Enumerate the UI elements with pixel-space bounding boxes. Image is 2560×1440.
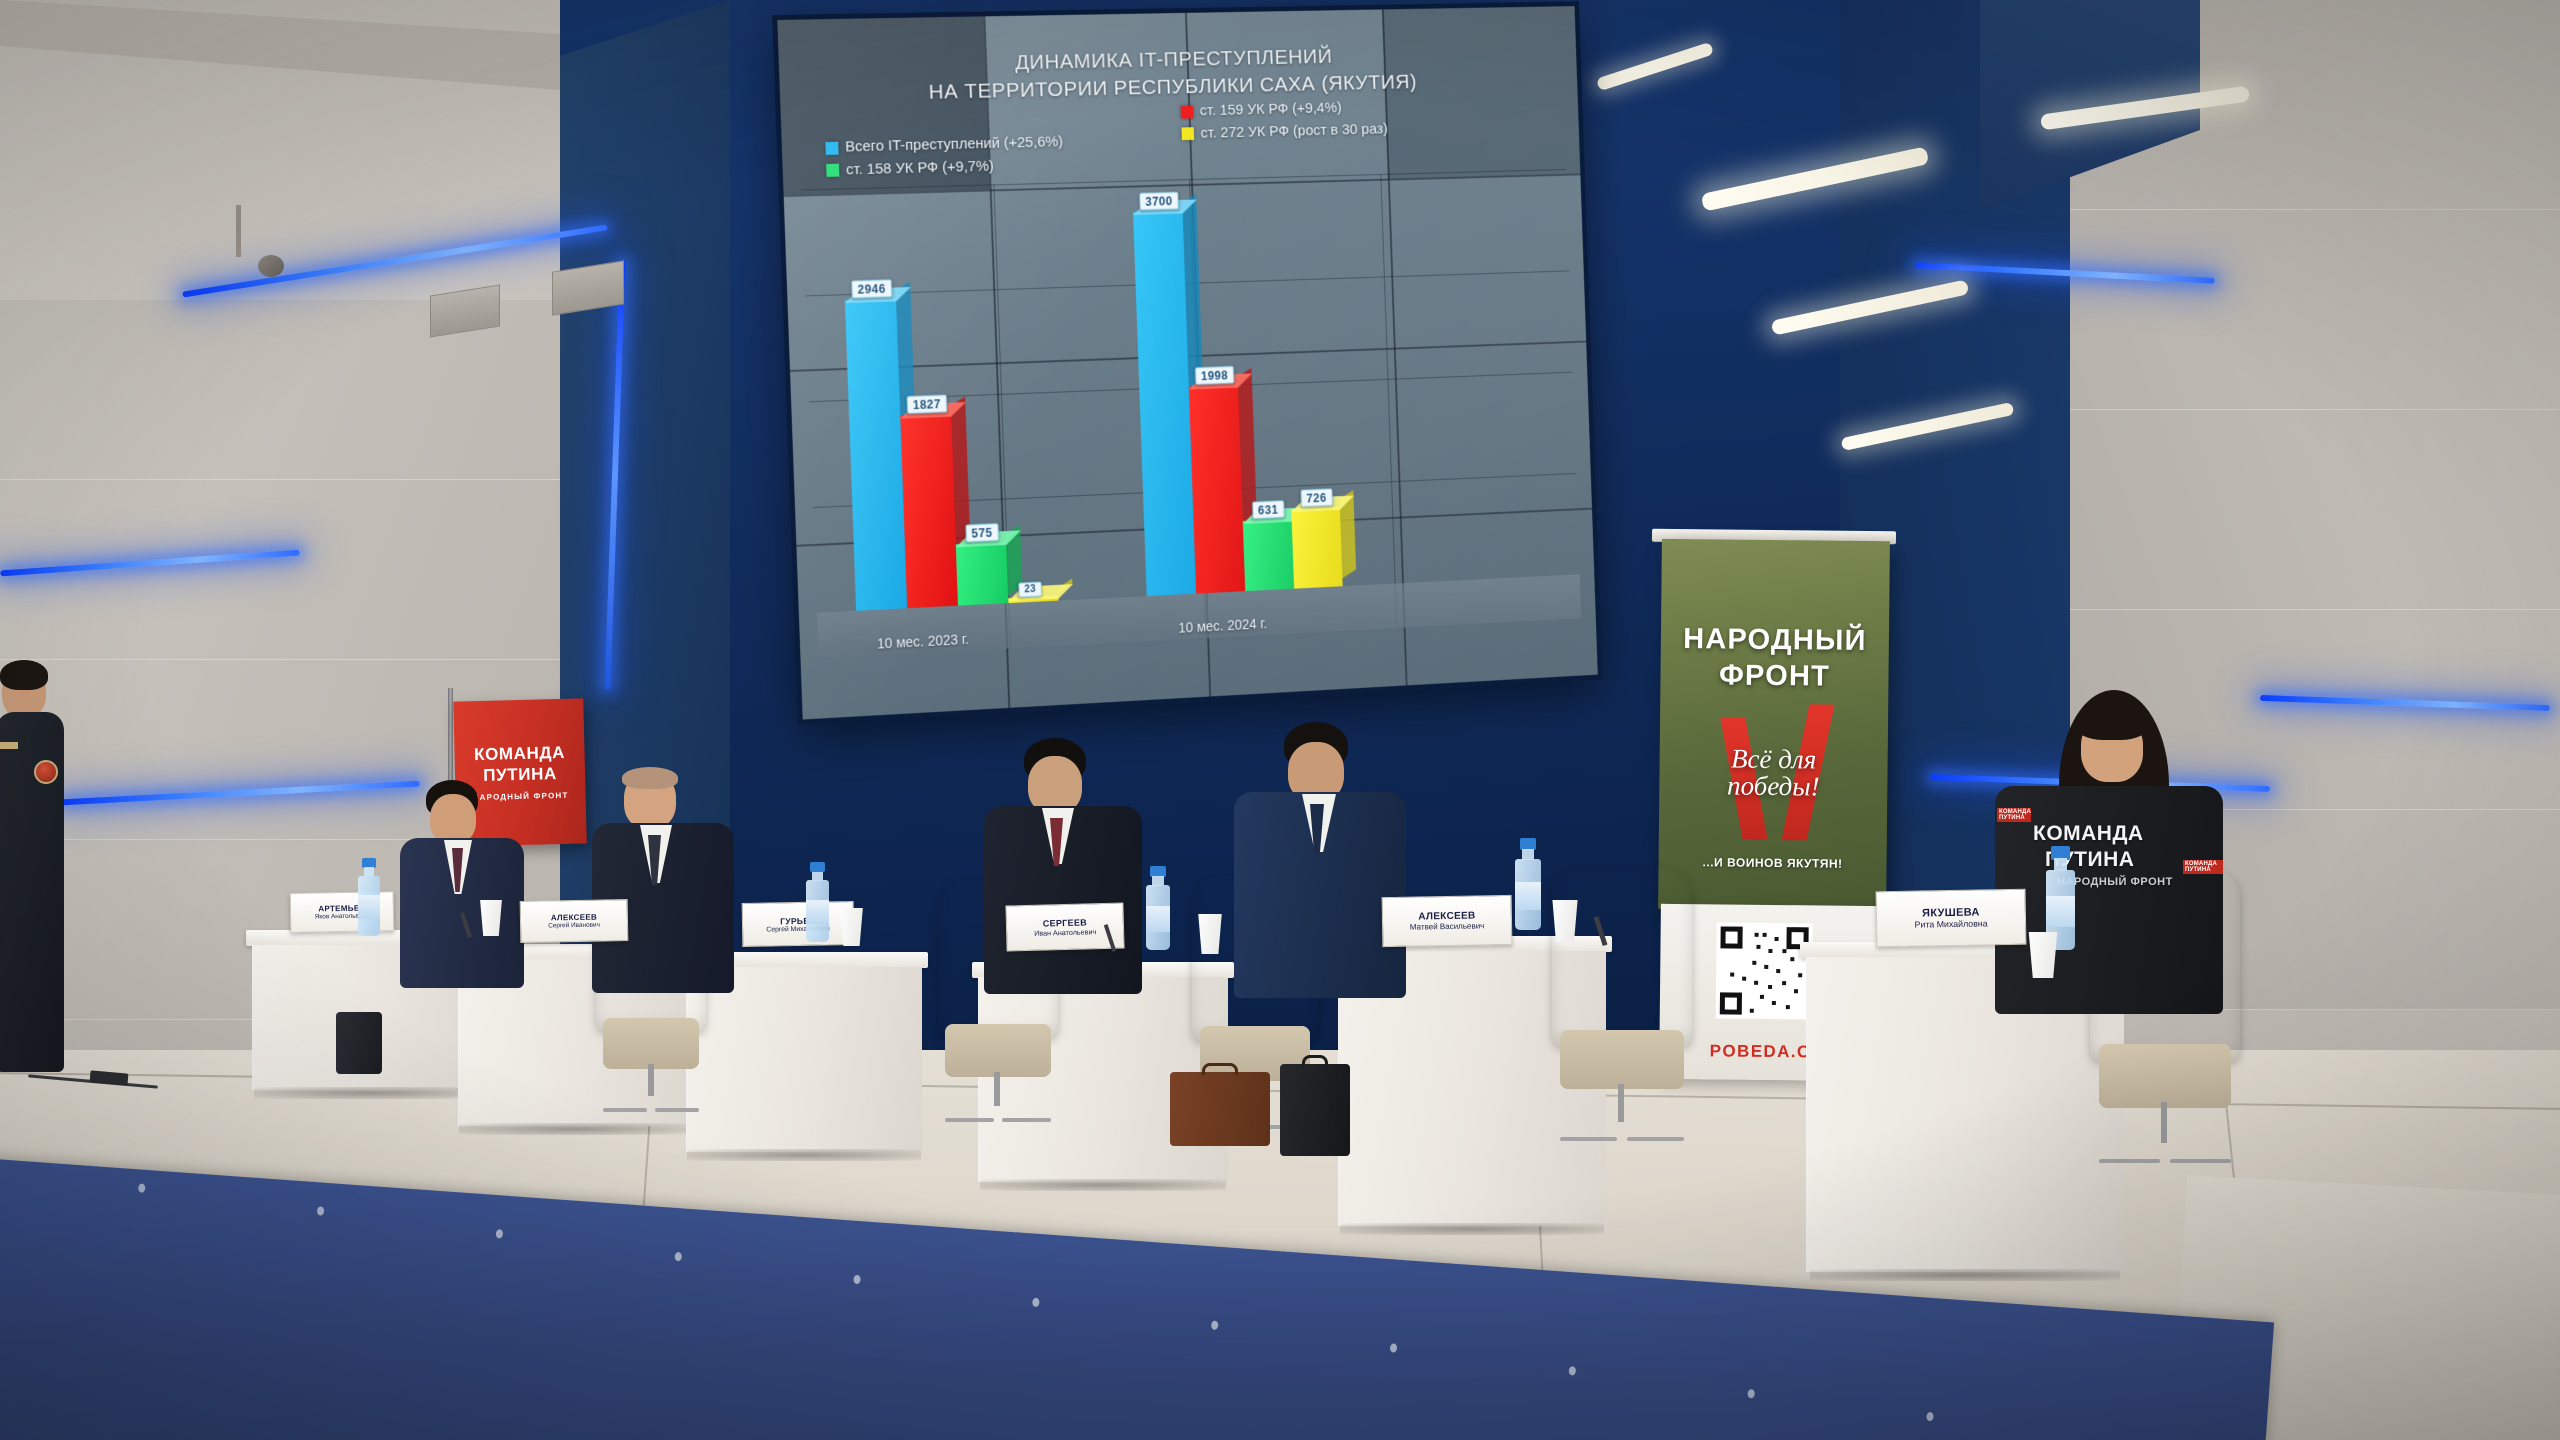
flag-line1: КОМАНДА (474, 743, 565, 765)
person-panelist-1 (390, 780, 530, 1000)
legend-label-art158: ст. 158 УК РФ (+9,7%) (846, 155, 994, 181)
chart-plot-area: 2946 1827 575 23 10 мес. 202 (801, 169, 1581, 659)
nameplate-5-given: Матвей Васильевич (1410, 921, 1485, 931)
tshirt-line1: КОМАНДА (2033, 822, 2144, 846)
person-panelist-3 (980, 738, 1145, 998)
bar-2023-art158 (956, 542, 1009, 606)
nameplate-6-given: Рита Михайловна (1915, 918, 1988, 929)
water-bottle-icon-2 (806, 862, 829, 942)
panelist5-hair-front (2075, 702, 2149, 740)
legend-swatch-art159 (1181, 105, 1194, 118)
person-police-officer (0, 690, 66, 1070)
rollup-script: Всё для победы! (1659, 745, 1888, 801)
qr-code-icon (1716, 922, 1813, 1019)
rollup-title-line2: ФРОНТ (1660, 659, 1888, 694)
rollup-banner-narodny-front: НАРОДНЫЙ ФРОНТ Всё для победы! ...И ВОИН… (1658, 539, 1890, 911)
water-bottle-icon-3 (1146, 866, 1170, 950)
bag-icon-3 (336, 1012, 382, 1074)
nameplate-6-surname: ЯКУШЕВА (1922, 906, 1980, 919)
officer-hair (0, 660, 48, 690)
nameplate-6: ЯКУШЕВА Рита Михайловна (1876, 889, 2027, 948)
person-panelist-5: КОМАНДА ПУТИНА НАРОДНЫЙ ФРОНТ КОМАНДА ПУ… (1995, 690, 2225, 1020)
chart-legend-right: ст. 159 УК РФ (+9,4%) ст. 272 УК РФ (рос… (1180, 96, 1388, 145)
person-panelist-2 (590, 765, 740, 1005)
camera-mount (236, 205, 241, 257)
nameplate-3: ГУРЬЕВ Сергей Михайлович (742, 901, 855, 947)
bar-label-2024-art158: 631 (1252, 500, 1284, 519)
briefcase-icon-1 (1170, 1072, 1270, 1146)
tshirt-badge-left: КОМАНДА ПУТИНА (1997, 808, 2031, 822)
panelist2-hair (622, 767, 678, 789)
bar-label-2023-art272: 23 (1018, 582, 1042, 598)
tshirt-badge-right: КОМАНДА ПУТИНА (2183, 860, 2223, 874)
bar-2024-art159 (1189, 385, 1245, 594)
bar-label-2023-art159: 1827 (907, 395, 947, 414)
legend-item-art272: ст. 272 УК РФ (рост в 30 раз) (1181, 118, 1388, 145)
nameplate-5: АЛЕКСЕЕВ Матвей Васильевич (1382, 895, 1513, 947)
bar-label-2024-art272: 726 (1301, 488, 1333, 507)
bar-2023-art159 (900, 414, 958, 609)
bar-label-2023-art158: 575 (965, 523, 998, 542)
legend-item-art158: ст. 158 УК РФ (+9,7%) (826, 153, 1064, 181)
bar-2024-art158 (1243, 519, 1294, 591)
person-panelist-4 (1230, 722, 1410, 1002)
nameplate-4-given: Иван Анатольевич (1034, 927, 1096, 938)
legend-swatch-art158 (826, 164, 839, 177)
rollup-tagline: ...И ВОИНОВ ЯКУТЯН! (1658, 855, 1886, 871)
bar-2023-total (845, 298, 907, 610)
conference-scene: ДИНАМИКА IT-ПРЕСТУПЛЕНИЙ НА ТЕРРИТОРИИ Р… (0, 0, 2560, 1440)
nameplate-2-given: Сергей Иванович (548, 922, 600, 930)
bar-label-2023-total: 2946 (851, 279, 892, 298)
officer-insignia-icon (0, 742, 18, 749)
legend-label-art272: ст. 272 УК РФ (рост в 30 раз) (1200, 118, 1388, 144)
officer-shoulder-patch-icon (34, 760, 58, 784)
rollup-title-line1: НАРОДНЫЙ (1661, 623, 1889, 658)
camera-icon (258, 255, 284, 277)
rollup-script-line2: победы! (1659, 772, 1887, 801)
water-bottle-icon-1 (358, 858, 380, 936)
chart-legend-left: Всего IT-преступлений (+25,6%) ст. 158 У… (825, 131, 1064, 182)
rollup-script-line1: Всё для (1660, 745, 1888, 774)
legend-swatch-total (825, 141, 838, 154)
briefcase-icon-2 (1280, 1064, 1350, 1156)
water-bottle-icon-4 (1515, 838, 1541, 930)
bar-2024-art272 (1291, 507, 1342, 589)
bar-label-2024-art159: 1998 (1195, 366, 1234, 385)
nameplate-2: АЛЕКСЕЕВ Сергей Иванович (520, 899, 629, 943)
led-video-wall: ДИНАМИКА IT-ПРЕСТУПЛЕНИЙ НА ТЕРРИТОРИИ Р… (777, 6, 1598, 719)
bar-2024-total (1133, 211, 1196, 596)
legend-swatch-art272 (1181, 127, 1194, 140)
bar-label-2024-total: 3700 (1139, 192, 1178, 211)
panelist1-head (430, 794, 476, 844)
